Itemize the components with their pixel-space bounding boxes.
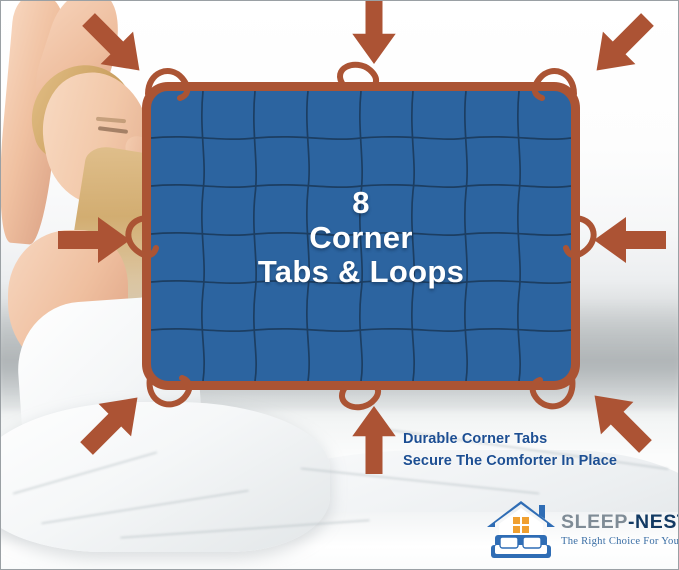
loop-bottom-left: [150, 378, 190, 404]
loop-bottom-center: [342, 384, 378, 407]
brand-text-block: SLEEP-NEST The Right Choice For You: [561, 511, 673, 547]
brand-logo: SLEEP-NEST The Right Choice For You: [483, 497, 673, 565]
comforter-diagram: 8 Corner Tabs & Loops: [142, 82, 580, 390]
loop-top-center: [340, 65, 376, 88]
arrow-left-middle: [58, 217, 130, 263]
white-duvet: [0, 402, 330, 552]
arrow-bottom-center: [352, 406, 396, 474]
caption-line-2: Secure The Comforter In Place: [403, 450, 665, 472]
arrow-right-middle: [594, 217, 666, 263]
brand-word-nest: -NEST: [628, 511, 679, 533]
loop-top-right: [535, 71, 574, 98]
caption-line-1: Durable Corner Tabs: [403, 428, 665, 450]
product-infographic: 8 Corner Tabs & Loops Durable Corner Tab…: [0, 0, 679, 570]
house-with-bed-icon: [483, 497, 559, 561]
loop-top-left: [148, 71, 187, 98]
comforter-corner-loops: [108, 48, 614, 424]
feature-caption: Durable Corner Tabs Secure The Comforter…: [403, 428, 665, 472]
brand-wordmark: SLEEP-NEST: [561, 511, 673, 534]
loop-right-middle: [566, 218, 594, 255]
brand-tagline: The Right Choice For You: [561, 536, 673, 547]
arrow-top-center: [352, 0, 396, 64]
brand-word-sleep: SLEEP: [561, 511, 628, 533]
loop-left-middle: [128, 218, 156, 255]
loop-bottom-right: [533, 378, 573, 406]
